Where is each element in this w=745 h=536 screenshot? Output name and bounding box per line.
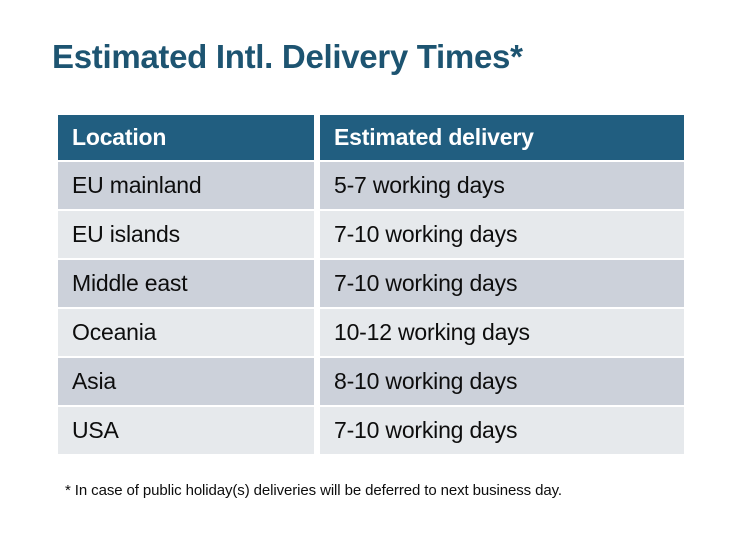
table-row: Middle east 7-10 working days [58,260,684,307]
cell-delivery: 7-10 working days [320,407,684,454]
cell-location: Asia [58,358,314,405]
column-header-location: Location [58,115,314,160]
delivery-times-page: Estimated Intl. Delivery Times* Location… [0,0,745,536]
cell-delivery: 10-12 working days [320,309,684,356]
cell-location: EU islands [58,211,314,258]
table-row: Asia 8-10 working days [58,358,684,405]
table-row: USA 7-10 working days [58,407,684,454]
table-row: EU mainland 5-7 working days [58,162,684,209]
cell-location: EU mainland [58,162,314,209]
cell-delivery: 7-10 working days [320,211,684,258]
footnote: * In case of public holiday(s) deliverie… [65,481,562,501]
cell-location: Oceania [58,309,314,356]
table-header-row: Location Estimated delivery [58,115,684,160]
table-body: EU mainland 5-7 working days EU islands … [58,162,684,454]
cell-delivery: 5-7 working days [320,162,684,209]
cell-location: USA [58,407,314,454]
table-row: EU islands 7-10 working days [58,211,684,258]
cell-delivery: 7-10 working days [320,260,684,307]
table-header: Location Estimated delivery [58,115,684,160]
table-row: Oceania 10-12 working days [58,309,684,356]
cell-location: Middle east [58,260,314,307]
column-header-estimated-delivery: Estimated delivery [320,115,684,160]
page-title: Estimated Intl. Delivery Times* [52,36,523,78]
cell-delivery: 8-10 working days [320,358,684,405]
delivery-times-table: Location Estimated delivery EU mainland … [52,113,690,456]
